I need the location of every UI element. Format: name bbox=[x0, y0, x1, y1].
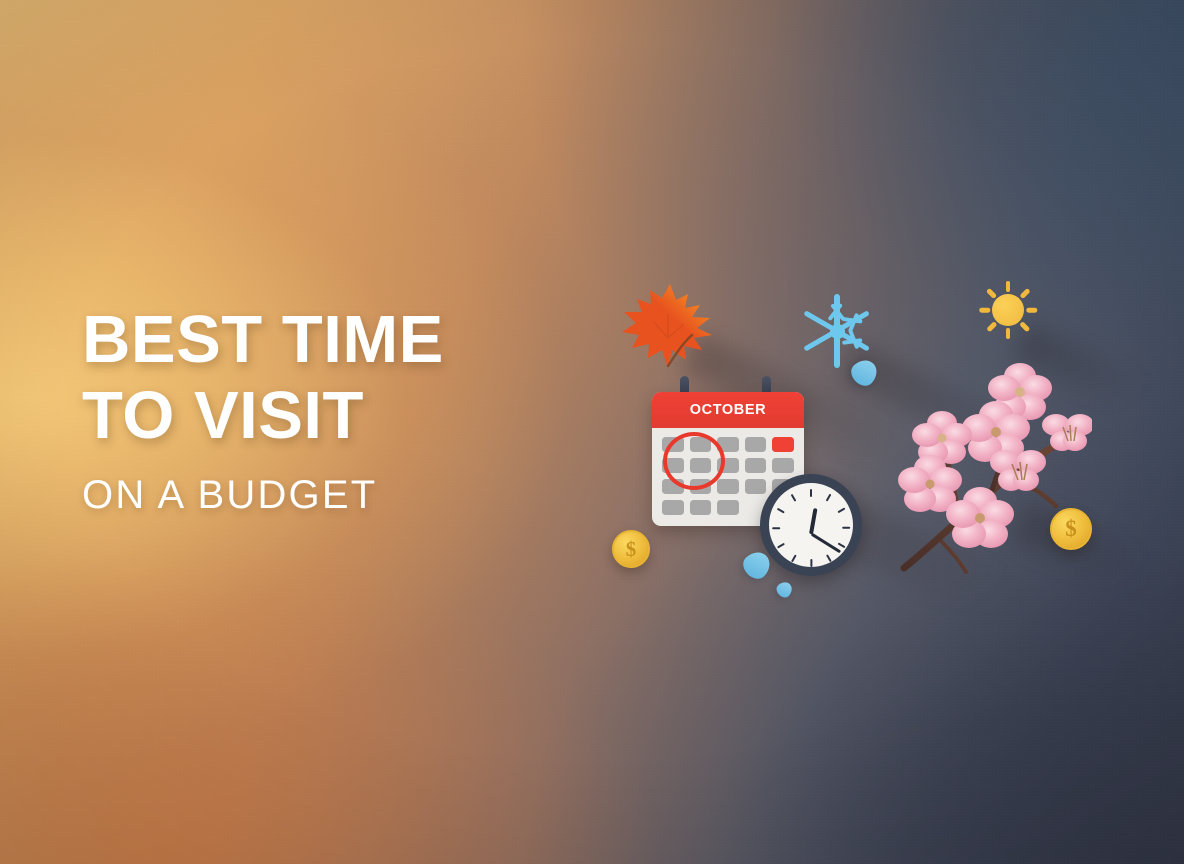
calendar-month-label: OCTOBER bbox=[690, 402, 766, 418]
calendar-day-cell bbox=[745, 458, 767, 473]
calendar-day-cell bbox=[662, 500, 684, 515]
clock-hour-hand bbox=[809, 508, 817, 534]
calendar-day-cell bbox=[772, 458, 794, 473]
calendar-day-cell bbox=[745, 437, 767, 452]
maple-leaf-icon bbox=[616, 278, 720, 378]
calendar-day-cell bbox=[717, 479, 739, 494]
calendar-day-cell bbox=[690, 500, 712, 515]
coin-currency-symbol: $ bbox=[1065, 516, 1077, 542]
coin-currency-symbol: $ bbox=[626, 537, 637, 562]
gold-coin-icon-left: $ bbox=[612, 530, 650, 568]
illustration-cluster: OCTOBER bbox=[0, 0, 1184, 864]
clock-icon bbox=[760, 474, 862, 576]
calendar-day-cell bbox=[717, 500, 739, 515]
calendar-day-cell-highlighted bbox=[772, 437, 794, 452]
banner-graphic: BEST TIME TO VISIT ON A BUDGET bbox=[0, 0, 1184, 864]
sun-icon bbox=[976, 278, 1040, 342]
water-drop-icon-small bbox=[774, 579, 795, 600]
clock-face bbox=[760, 474, 862, 576]
clock-minute-hand bbox=[810, 533, 840, 554]
calendar-header: OCTOBER bbox=[652, 392, 804, 428]
snowflake-icon bbox=[798, 292, 876, 370]
gold-coin-icon-right: $ bbox=[1050, 508, 1092, 550]
calendar-circled-date-marker bbox=[663, 432, 725, 490]
